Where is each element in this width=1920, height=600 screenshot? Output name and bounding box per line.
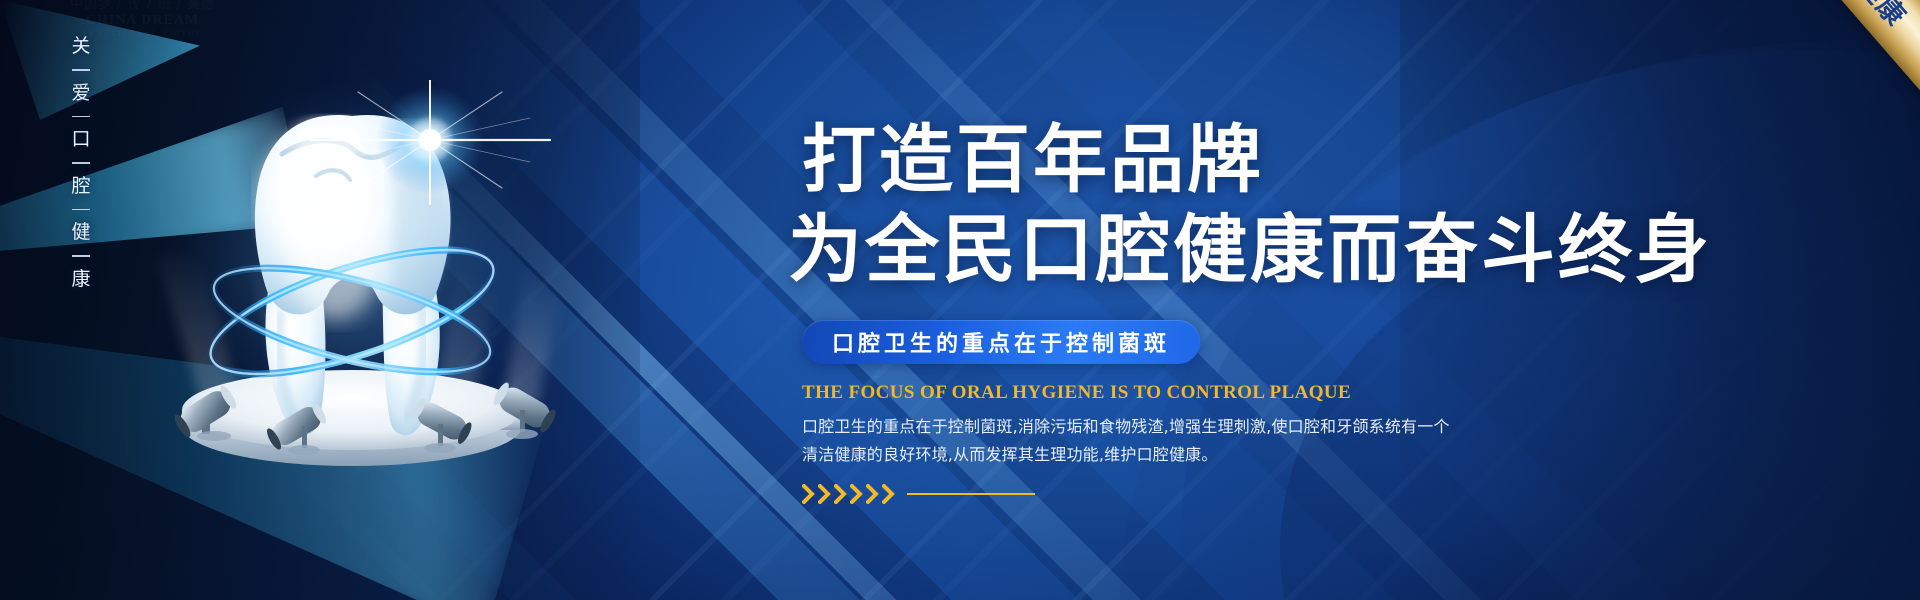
chevron-right-icon: [882, 484, 895, 504]
vertical-slogan-char: 爱: [71, 84, 90, 103]
chevron-right-icon: [802, 484, 815, 504]
vertical-slogan-char: 腔: [71, 177, 90, 196]
body-copy-line-1: 口腔卫生的重点在于控制菌斑,消除污垢和食物残渣,增强生理刺激,使口腔和牙颌系统有…: [802, 413, 1870, 441]
chevron-right-icon: [866, 484, 879, 504]
arrow-decoration-line: [907, 493, 1035, 495]
vertical-slogan-char: 口: [71, 130, 90, 149]
stage-podium: [182, 370, 522, 466]
vertical-slogan-divider: [72, 209, 90, 211]
body-copy-line-2: 清洁健康的良好环境,从而发挥其生理功能,维护口腔健康。: [802, 441, 1870, 469]
tooth-illustration-svg: [130, 80, 570, 520]
vertical-slogan-divider: [72, 162, 90, 164]
vertical-slogan: 关 爱 口 腔 健 康: [62, 36, 100, 290]
chevron-right-icon: [818, 484, 831, 504]
arrow-decoration: [802, 484, 1870, 504]
content-block: 打造百年品牌 为全民口腔健康而奋斗终身 口腔卫生的重点在于控制菌斑 THE FO…: [790, 118, 1870, 504]
headline-line-1: 打造百年品牌: [802, 118, 1870, 204]
headline-line-2: 为全民口腔健康而奋斗终身: [788, 208, 1870, 294]
tagline-pill-label: 口腔卫生的重点在于控制菌斑: [832, 326, 1170, 358]
tooth-illustration: [130, 80, 570, 520]
vertical-slogan-divider: [72, 69, 90, 71]
vertical-slogan-divider: [72, 255, 90, 257]
vertical-slogan-char: 关: [71, 37, 90, 56]
body-copy: 口腔卫生的重点在于控制菌斑,消除污垢和食物残渣,增强生理刺激,使口腔和牙颌系统有…: [802, 413, 1870, 470]
promotional-banner: 中国梦 / 传 / 统 / 美德 CHINA DREAM TRADITIONAL…: [0, 0, 1920, 600]
english-subtitle: THE FOCUS OF ORAL HYGIENE IS TO CONTROL …: [802, 382, 1870, 404]
vertical-slogan-divider: [72, 116, 90, 118]
chevron-right-icon: [834, 484, 847, 504]
vertical-slogan-char: 健: [71, 223, 90, 242]
tagline-pill[interactable]: 口腔卫生的重点在于控制菌斑: [802, 320, 1200, 364]
chevron-right-icon: [850, 484, 863, 504]
vertical-slogan-char: 康: [71, 270, 90, 289]
